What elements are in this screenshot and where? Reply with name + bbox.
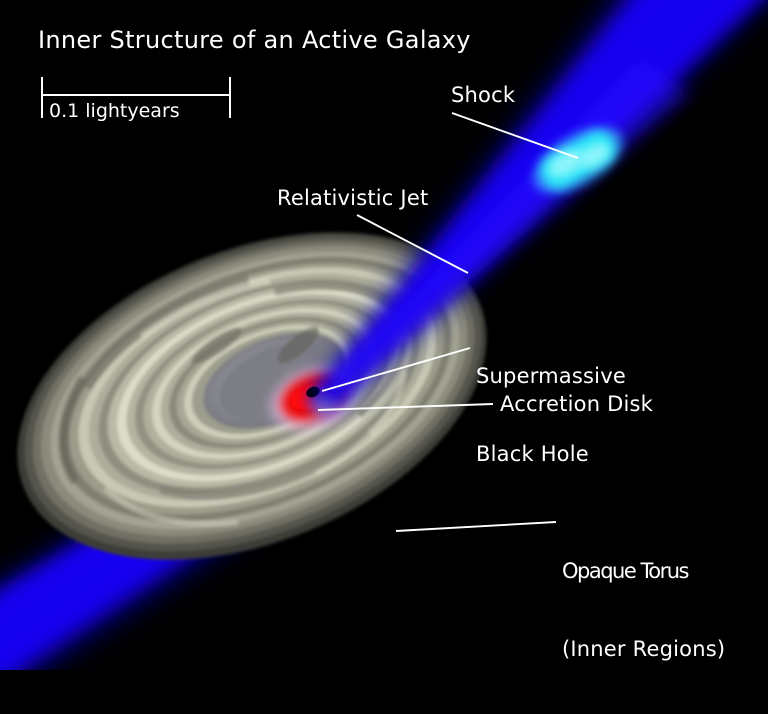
diagram-canvas: Inner Structure of an Active Galaxy 0.1 … — [0, 0, 768, 670]
label-smbh-line1: Supermassive — [476, 363, 626, 389]
label-relativistic-jet: Relativistic Jet — [277, 185, 428, 211]
scale-bar-label: 0.1 lightyears — [49, 100, 180, 122]
label-shock: Shock — [451, 82, 515, 108]
label-torus-line2: (Inner Regions) — [562, 636, 725, 662]
label-accretion-disk: Accretion Disk — [500, 391, 653, 417]
label-opaque-torus: Opaque Torus (Inner Regions) — [562, 506, 725, 714]
label-torus-line1: Opaque Torus — [562, 558, 725, 584]
label-smbh-line2: Black Hole — [476, 441, 626, 467]
page-title: Inner Structure of an Active Galaxy — [38, 26, 471, 54]
